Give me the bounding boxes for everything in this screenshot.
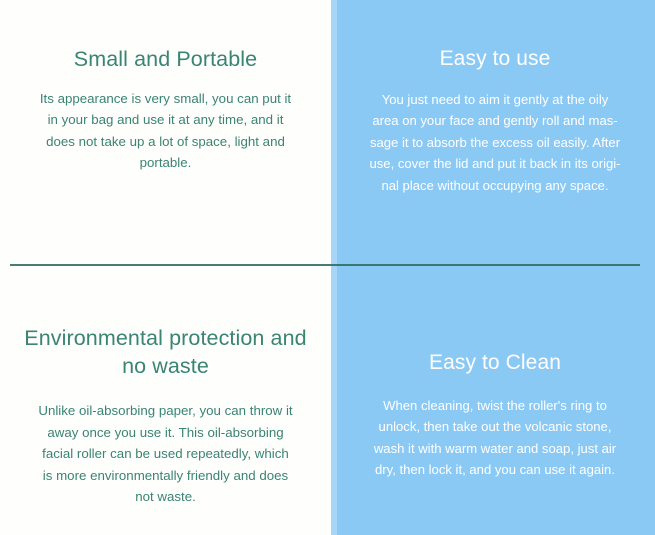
feature-body-small-and-portable: Its appearance is very small, you can pu… <box>40 88 291 174</box>
feature-grid: Small and Portable Its appearance is ver… <box>0 0 655 535</box>
feature-body-easy-to-use: You just need to aim it gently at the oi… <box>369 89 620 196</box>
feature-body-environmental-protection: Unlike oil-absorbing paper, you can thro… <box>38 400 292 508</box>
feature-block-easy-to-clean: Easy to Clean When cleaning, twist the r… <box>331 265 655 535</box>
feature-heading-environmental-protection: Environmental protection and no waste <box>12 325 319 380</box>
feature-body-easy-to-clean: When cleaning, twist the roller's ring t… <box>374 395 616 481</box>
feature-heading-small-and-portable: Small and Portable <box>74 46 257 74</box>
feature-heading-easy-to-clean: Easy to Clean <box>429 350 561 377</box>
feature-block-easy-to-use: Easy to use You just need to aim it gent… <box>331 0 655 265</box>
feature-heading-easy-to-use: Easy to use <box>440 46 551 73</box>
product-feature-infographic: Small and Portable Its appearance is ver… <box>0 0 655 535</box>
feature-block-environmental-protection: Environmental protection and no waste Un… <box>0 265 331 535</box>
feature-block-small-and-portable: Small and Portable Its appearance is ver… <box>0 0 331 265</box>
